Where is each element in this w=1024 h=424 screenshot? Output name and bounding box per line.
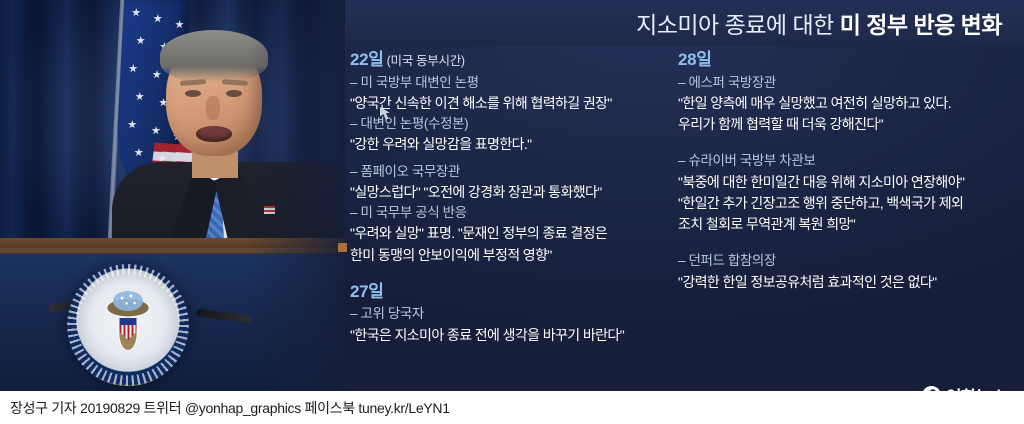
timeline-entry: – 던퍼드 합참의장 "강력한 한일 정보공유처럼 효과적인 것은 없다": [678, 251, 1014, 293]
entry-quote-line: "한일간 추가 긴장고조 행위 중단하고, 백색국가 제외: [678, 193, 1014, 214]
timeline-entry: – 에스퍼 국방장관 "한일 양측에 매우 실망했고 여전히 실망하고 있다. …: [678, 73, 1014, 136]
entry-attribution: – 던퍼드 합참의장: [678, 251, 1014, 271]
timeline-column-right: 28일 – 에스퍼 국방장관 "한일 양측에 매우 실망했고 여전히 실망하고 …: [678, 50, 1014, 307]
date-heading: 27일: [350, 282, 670, 302]
entry-quote-line: "한국은 지소미아 종료 전에 생각을 바꾸기 바란다": [350, 325, 670, 346]
date-label: 27일: [350, 282, 384, 301]
infographic-root: 지소미아 종료에 대한 미 정부 반응 변화 22일(미국 동부시간) – 미 …: [0, 0, 1024, 424]
press-conference-photo: [0, 0, 345, 391]
timeline-entry: – 슈라이버 국방부 차관보 "북중에 대한 한미일간 대응 위해 지소미아 연…: [678, 151, 1014, 235]
entry-attribution: – 고위 당국자: [350, 304, 670, 324]
entry-quote-line: "강한 우려와 실망감을 표명한다.": [350, 134, 670, 155]
date-note: (미국 동부시간): [387, 54, 465, 68]
timeline-column-left: 22일(미국 동부시간) – 미 국방부 대변인 논평 "양국간 신속한 이견 …: [350, 50, 670, 360]
timeline-entry: – 미 국무부 공식 반응 "우려와 실망" 표명. "문재인 정부의 종료 결…: [350, 203, 670, 266]
date-label: 28일: [678, 50, 712, 69]
entry-quote-line: 한미 동맹의 안보이익에 부정적 영향": [350, 245, 670, 266]
timeline-entry: – 대변인 논평(수정본) "강한 우려와 실망감을 표명한다.": [350, 114, 670, 156]
entry-quote-line: "북중에 대한 한미일간 대응 위해 지소미아 연장해야": [678, 172, 1014, 193]
timeline-block-22: 22일(미국 동부시간) – 미 국방부 대변인 논평 "양국간 신속한 이견 …: [350, 50, 670, 266]
timeline-entry: – 고위 당국자 "한국은 지소미아 종료 전에 생각을 바꾸기 바란다": [350, 304, 670, 346]
timeline-entry: – 미 국방부 대변인 논평 "양국간 신속한 이견 해소를 위해 협력하길 권…: [350, 73, 670, 115]
entry-quote-line: "강력한 한일 정보공유처럼 효과적인 것은 없다": [678, 272, 1014, 293]
entry-quote-line: "실망스럽다" "오전에 강경화 장관과 통화했다": [350, 182, 670, 203]
page-title-bold: 미 정부 반응 변화: [840, 12, 1002, 38]
timeline-block-27: 27일 – 고위 당국자 "한국은 지소미아 종료 전에 생각을 바꾸기 바란다…: [350, 282, 670, 346]
entry-attribution: – 에스퍼 국방장관: [678, 73, 1014, 93]
caption-text: 장성구 기자 20190829 트위터 @yonhap_graphics 페이스…: [0, 398, 450, 418]
photo-edge-vignette: [0, 0, 345, 391]
date-heading: 22일(미국 동부시간): [350, 50, 670, 70]
caption-bar: 장성구 기자 20190829 트위터 @yonhap_graphics 페이스…: [0, 391, 1024, 424]
entry-quote-line: "한일 양측에 매우 실망했고 여전히 실망하고 있다.: [678, 93, 1014, 114]
entry-quote-line: 우리가 함께 협력할 때 더욱 강해진다": [678, 114, 1014, 135]
timeline-entry: – 폼페이오 국무장관 "실망스럽다" "오전에 강경화 장관과 통화했다": [350, 162, 670, 204]
page-title-light: 지소미아 종료에 대한: [636, 12, 840, 38]
entry-quote-line: 조치 철회로 무역관계 복원 희망": [678, 214, 1014, 235]
entry-attribution: – 미 국무부 공식 반응: [350, 203, 670, 223]
page-title: 지소미아 종료에 대한 미 정부 반응 변화: [636, 6, 1002, 40]
timeline-block-28: 28일 – 에스퍼 국방장관 "한일 양측에 매우 실망했고 여전히 실망하고 …: [678, 50, 1014, 293]
entry-quote-line: "양국간 신속한 이견 해소를 위해 협력하길 권장": [350, 93, 670, 114]
entry-attribution: – 미 국방부 대변인 논평: [350, 73, 670, 93]
date-heading: 28일: [678, 50, 1014, 70]
entry-attribution: – 슈라이버 국방부 차관보: [678, 151, 1014, 171]
date-label: 22일: [350, 50, 384, 69]
entry-attribution: – 폼페이오 국무장관: [350, 162, 670, 182]
title-bar: 지소미아 종료에 대한 미 정부 반응 변화: [330, 0, 1024, 46]
entry-attribution: – 대변인 논평(수정본): [350, 114, 670, 134]
cursor-marker-icon: [338, 243, 347, 252]
entry-quote-line: "우려와 실망" 표명. "문재인 정부의 종료 결정은: [350, 223, 670, 244]
